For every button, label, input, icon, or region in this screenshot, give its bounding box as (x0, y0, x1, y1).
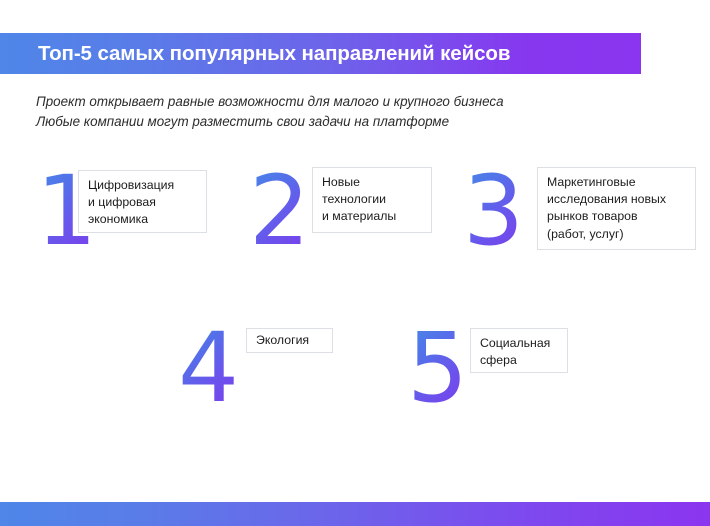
item-label-line: и материалы (322, 208, 422, 225)
item-label-box-1: Цифровизация и цифровая экономика (78, 170, 207, 233)
item-label-box-5: Социальная сфера (470, 328, 568, 373)
item-label-line: Цифровизация (88, 177, 197, 194)
page-title: Топ-5 самых популярных направлений кейсо… (38, 42, 510, 66)
item-label-line: рынков товаров (547, 208, 686, 225)
item-number-2: 2 (249, 163, 310, 259)
item-label-box-2: Новые технологии и материалы (312, 167, 432, 233)
item-label-line: Экология (256, 332, 323, 349)
subtitle-line-1: Проект открывает равные возможности для … (36, 92, 504, 112)
item-label-line: технологии (322, 191, 422, 208)
item-label-line: исследования новых (547, 191, 686, 208)
item-number-4: 4 (178, 320, 239, 416)
item-label-line: (работ, услуг) (547, 226, 686, 243)
item-label-line: и цифровая (88, 194, 197, 211)
subtitle-line-2: Любые компании могут разместить свои зад… (36, 112, 504, 132)
slide-canvas: Топ-5 самых популярных направлений кейсо… (0, 0, 710, 526)
item-label-line: Социальная (480, 335, 558, 352)
item-label-line: Новые (322, 174, 422, 191)
item-label-line: Маркетинговые (547, 174, 686, 191)
item-number-3: 3 (463, 163, 524, 259)
item-label-line: сфера (480, 352, 558, 369)
slide-footer-bar (0, 502, 710, 526)
item-label-box-4: Экология (246, 328, 333, 353)
item-label-box-3: Маркетинговые исследования новых рынков … (537, 167, 696, 250)
item-number-5: 5 (407, 320, 468, 416)
item-label-line: экономика (88, 211, 197, 228)
slide-subtitle: Проект открывает равные возможности для … (36, 92, 504, 131)
slide-title-banner: Топ-5 самых популярных направлений кейсо… (0, 33, 641, 74)
